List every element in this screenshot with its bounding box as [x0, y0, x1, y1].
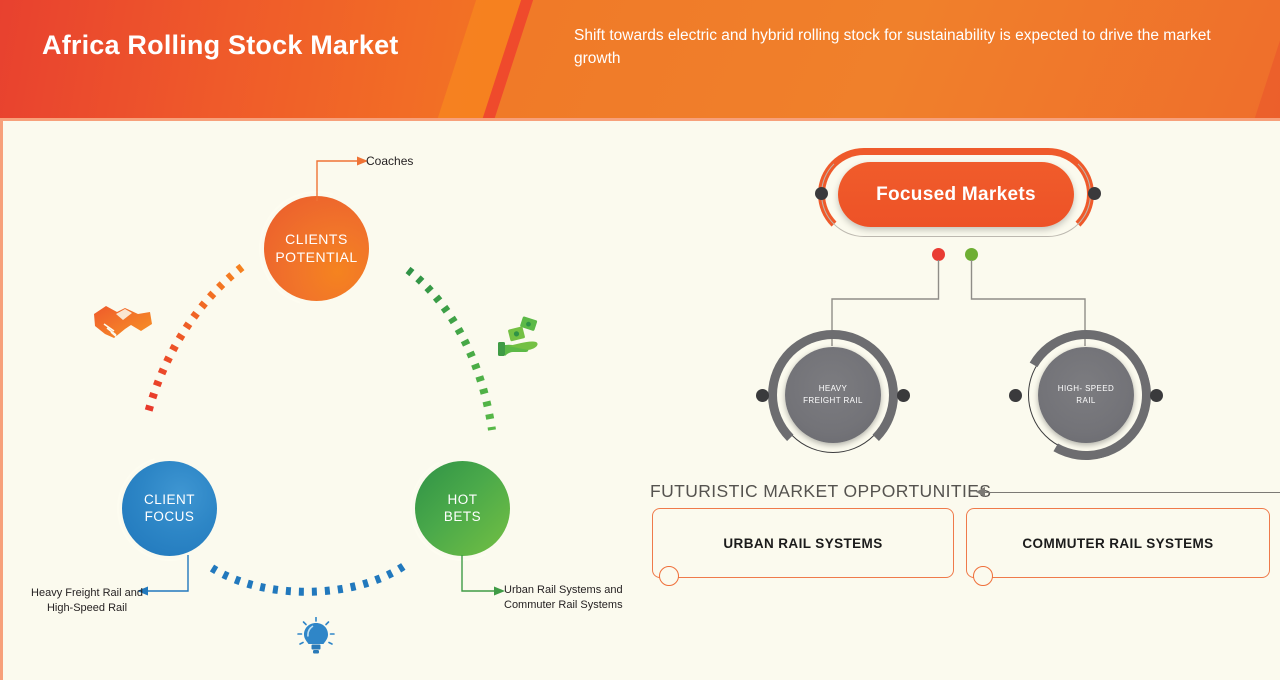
header-subtitle: Shift towards electric and hybrid rollin… — [574, 24, 1234, 71]
lightbulb-icon — [297, 617, 335, 657]
opportunity-box-urban-rail[interactable]: URBAN RAIL SYSTEMS — [652, 508, 954, 578]
heavy-freight-label: HEAVY FREIGHT RAIL — [803, 383, 863, 406]
hot-bets-connector — [458, 555, 510, 597]
money-hand-icon — [496, 314, 542, 360]
node-clients-potential-label: CLIENTS POTENTIAL — [275, 231, 357, 265]
dotted-arc-green — [400, 262, 510, 440]
node-hot-bets[interactable]: HOT BETS — [415, 461, 510, 556]
dotted-arc-blue — [208, 560, 408, 600]
callout-coaches: Coaches — [366, 153, 413, 169]
page-title: Africa Rolling Stock Market — [42, 28, 442, 63]
node-clients-potential[interactable]: CLIENTS POTENTIAL — [264, 196, 369, 301]
node-client-focus-label: CLIENT FOCUS — [144, 492, 195, 525]
opportunity-knob-urban-rail — [659, 566, 679, 586]
heavy-freight-body: HEAVY FREIGHT RAIL — [785, 347, 881, 443]
market-node-heavy-freight-rail[interactable]: HEAVY FREIGHT RAIL — [768, 330, 898, 460]
futuristic-opportunities-title: FUTURISTIC MARKET OPPORTUNITIES — [650, 481, 991, 502]
callout-hot-bets: Urban Rail Systems and Commuter Rail Sys… — [504, 583, 654, 613]
high-speed-dot-left — [1009, 389, 1022, 402]
high-speed-body: HIGH- SPEED RAIL — [1038, 347, 1134, 443]
focused-markets-dot-right — [1088, 187, 1101, 200]
high-speed-dot-right — [1150, 389, 1163, 402]
opportunity-knob-commuter-rail — [973, 566, 993, 586]
node-hot-bets-label: HOT BETS — [444, 492, 481, 525]
market-node-high-speed-rail[interactable]: HIGH- SPEED RAIL — [1021, 330, 1151, 460]
node-client-focus[interactable]: CLIENT FOCUS — [122, 461, 217, 556]
focused-markets-label: Focused Markets — [876, 184, 1036, 206]
coaches-connector — [313, 155, 373, 203]
heavy-freight-dot-right — [897, 389, 910, 402]
opportunity-label-commuter-rail: COMMUTER RAIL SYSTEMS — [1022, 536, 1213, 551]
focused-markets-dot-left — [815, 187, 828, 200]
callout-client-focus: Heavy Freight Rail and High-Speed Rail — [12, 586, 162, 616]
infographic-page: Africa Rolling Stock Market Shift toward… — [0, 0, 1280, 680]
opportunity-box-commuter-rail[interactable]: COMMUTER RAIL SYSTEMS — [966, 508, 1270, 578]
heavy-freight-dot-left — [756, 389, 769, 402]
left-accent-rule — [0, 118, 3, 680]
focused-markets-pill[interactable]: Focused Markets — [838, 162, 1074, 227]
handshake-icon — [92, 300, 154, 346]
header-divider — [0, 118, 1280, 121]
focused-markets-group: Focused Markets — [810, 148, 1102, 244]
futuristic-connector-line — [984, 492, 1280, 494]
opportunity-label-urban-rail: URBAN RAIL SYSTEMS — [723, 536, 882, 551]
high-speed-label: HIGH- SPEED RAIL — [1058, 383, 1114, 406]
